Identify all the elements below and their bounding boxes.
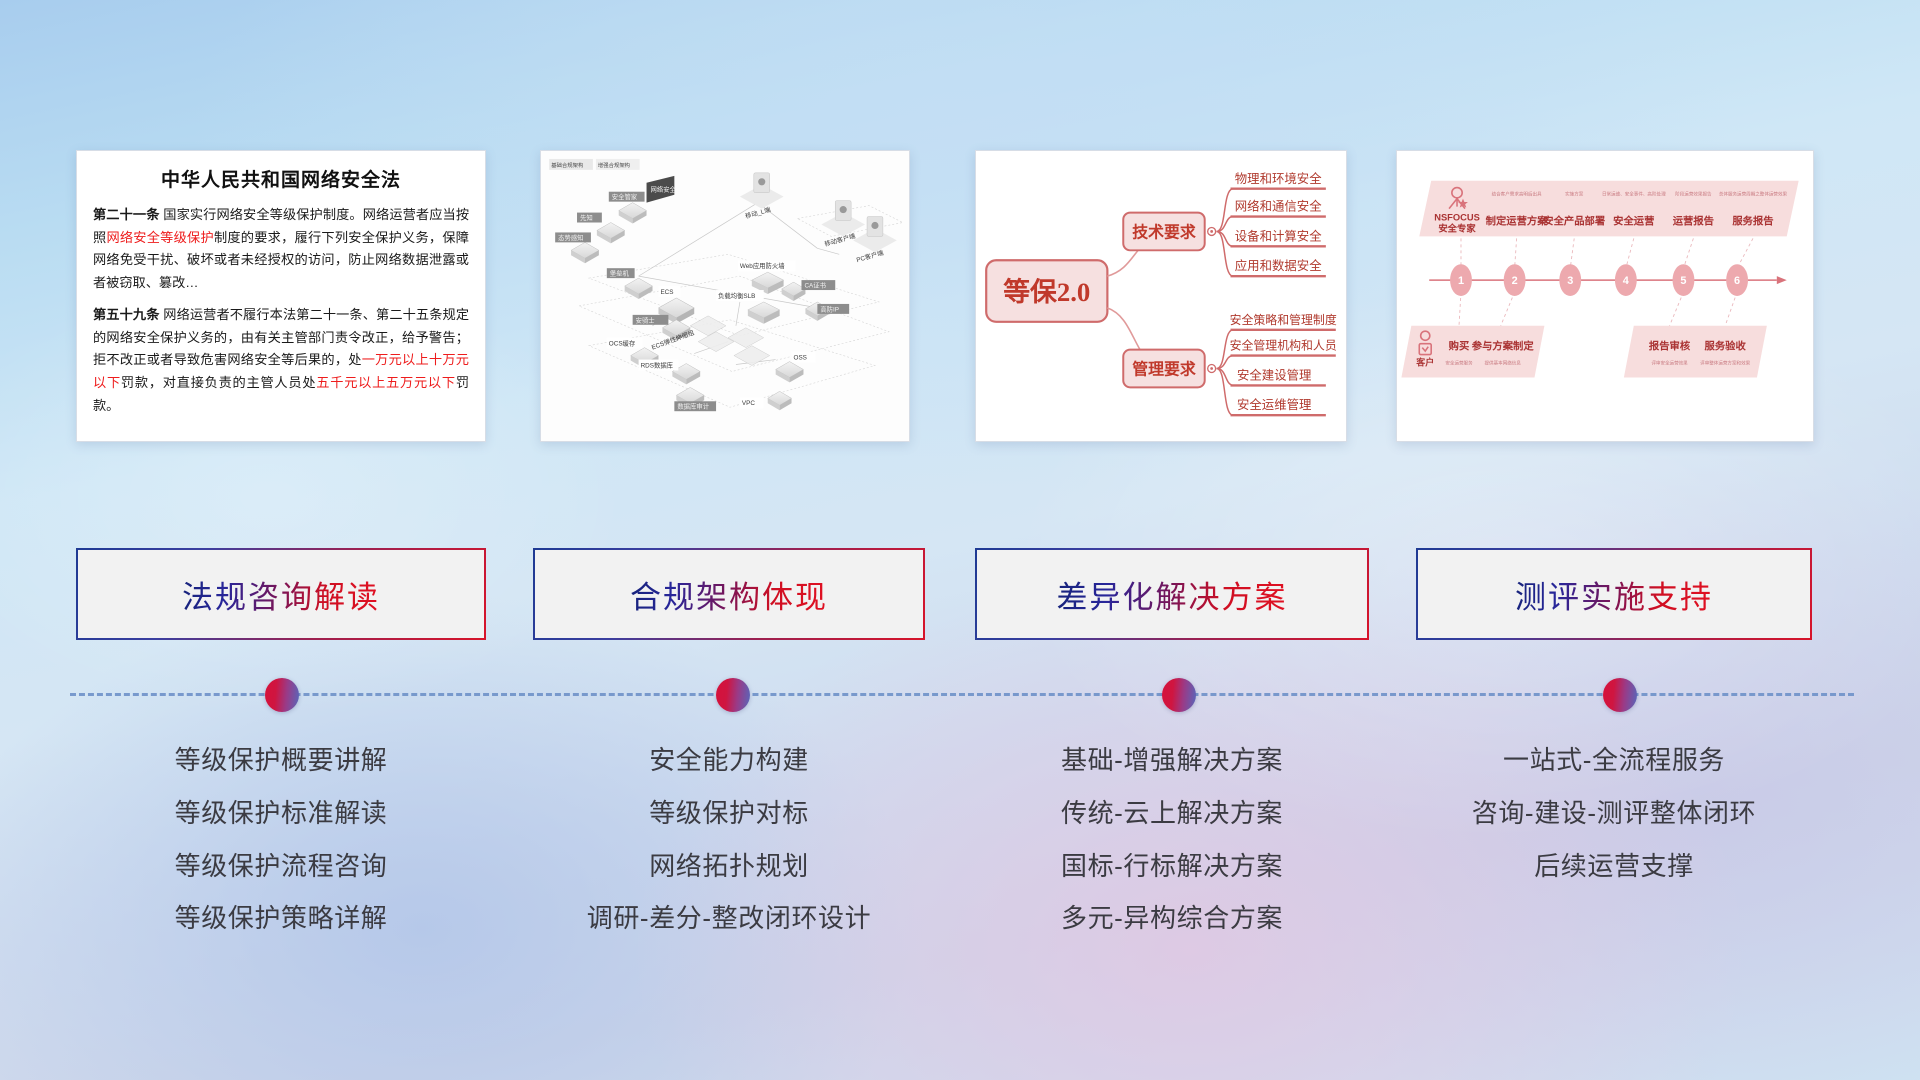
- process-top-title-3: 安全运营: [1613, 214, 1654, 227]
- mindmap-leaf-2-3: 安全建设管理: [1237, 367, 1311, 382]
- timeline: [70, 693, 1854, 697]
- mindmap-leaf-2-2: 安全管理机构和人员: [1230, 339, 1337, 353]
- arch-banner: 网络安全: [651, 185, 677, 194]
- list-item: 网络拓扑规划: [533, 840, 925, 893]
- section-title-label-2: 合规架构体现: [630, 572, 828, 617]
- arch-node-14: OSS: [794, 355, 807, 362]
- section-title-label-4: 测评实施支持: [1515, 572, 1713, 617]
- timeline-dot-1[interactable]: [265, 678, 299, 712]
- process-bottom-title-4: 服务验收: [1705, 340, 1747, 353]
- section-title-box-2[interactable]: 合规架构体现: [533, 548, 925, 640]
- process-bottom-note-1: 安全运营服务: [1445, 360, 1473, 367]
- mindmap-diagram: 等保2.0 技术要求 物理和环境安全 网络和通: [976, 151, 1346, 441]
- mindmap-leaf-1-2: 网络和通信安全: [1235, 199, 1322, 214]
- law-article-21: 第二十一条 国家实行网络安全等级保护制度。网络运营者应当按照网络安全等级保护制度…: [93, 204, 469, 295]
- list-item: 等级保护对标: [533, 787, 925, 840]
- list-item: 传统-云上解决方案: [975, 787, 1369, 840]
- process-top-note-5: 总体服务运营周期之整体运营效果: [1719, 191, 1788, 198]
- mindmap-root-label: 等保2.0: [1003, 276, 1090, 307]
- list-item: 安全能力构建: [533, 734, 925, 787]
- section-item-list-2: 安全能力构建 等级保护对标 网络拓扑规划 调研-差分-整改闭环设计: [533, 734, 925, 945]
- mindmap-branch-2-label: 管理要求: [1132, 359, 1196, 378]
- architecture-diagram: 基础合规架构 增强合规架构 网络安全: [541, 151, 909, 441]
- process-step-1: 1: [1458, 275, 1464, 287]
- process-bottom-title-3: 报告审核: [1649, 340, 1691, 353]
- process-step-5: 5: [1680, 275, 1686, 287]
- process-top-note-1: 结合客户需求高明后出具: [1492, 191, 1542, 198]
- process-bottom-note-2: 提供基本网络信息: [1485, 360, 1522, 367]
- arch-node-13: 高防IP: [820, 304, 839, 313]
- list-item: 多元-异构综合方案: [975, 892, 1369, 945]
- timeline-dot-2[interactable]: [716, 678, 750, 712]
- mindmap-branch-1-label: 技术要求: [1132, 222, 1196, 241]
- timeline-dot-4[interactable]: [1603, 678, 1637, 712]
- list-item: 后续运营支撑: [1416, 840, 1812, 893]
- arch-node-8: RDS数据库: [641, 361, 674, 370]
- section-item-list-4: 一站式-全流程服务 咨询-建设-测评整体闭环 后续运营支撑: [1416, 734, 1812, 892]
- list-item: 咨询-建设-测评整体闭环: [1416, 787, 1812, 840]
- article-59-text-2: 罚款，对直接负责的主管人员处: [121, 375, 316, 390]
- arch-node-2: 先知: [580, 213, 593, 222]
- mindmap-leaf-1-3: 设备和计算安全: [1235, 228, 1322, 243]
- process-step-4: 4: [1623, 275, 1629, 287]
- section-title-label-3: 差异化解决方案: [1057, 572, 1288, 617]
- section-title-box-1[interactable]: 法规咨询解读: [76, 548, 486, 640]
- card-mindmap-dengbao: 等保2.0 技术要求 物理和环境安全 网络和通: [975, 150, 1347, 442]
- mindmap-leaf-2-4: 安全运维管理: [1237, 397, 1311, 412]
- process-top-banner: [1419, 181, 1798, 237]
- list-item: 等级保护策略详解: [76, 892, 486, 945]
- card-nsfocus-process: NSFOCUS 安全专家 结合客户需求高明后出具 制定运营方案 实施方案 安全产…: [1396, 150, 1814, 442]
- process-top-note-3: 日常运维、安全事件、高阶处理: [1602, 191, 1666, 198]
- timeline-dashed-line: [70, 693, 1854, 696]
- section-title-box-4[interactable]: 测评实施支持: [1416, 548, 1812, 640]
- article-21-highlight: 网络安全等级保护: [106, 230, 214, 245]
- list-item: 等级保护流程咨询: [76, 840, 486, 893]
- slide-stage: 中华人民共和国网络安全法 第二十一条 国家实行网络安全等级保护制度。网络运营者应…: [0, 0, 1920, 1080]
- process-top-title-5: 服务报告: [1732, 214, 1773, 227]
- arch-node-7: OCS缓存: [609, 339, 636, 348]
- process-step-2: 2: [1512, 275, 1518, 287]
- article-59-label: 第五十九条: [93, 307, 160, 322]
- arch-tab-1: 基础合规架构: [551, 161, 584, 169]
- article-21-label: 第二十一条: [93, 207, 160, 222]
- process-step-6: 6: [1734, 275, 1740, 287]
- arch-node-1: 安全管家: [612, 192, 638, 201]
- section-item-list-1: 等级保护概要讲解 等级保护标准解读 等级保护流程咨询 等级保护策略详解: [76, 734, 486, 945]
- process-top-title-1: 制定运营方案: [1486, 214, 1549, 227]
- arch-node-6: 安骑士: [636, 315, 656, 324]
- process-top-note-2: 实施方案: [1565, 191, 1584, 198]
- arch-node-3: 态势感知: [558, 233, 583, 242]
- arch-node-5: ECS: [660, 289, 673, 296]
- process-top-actor: NSFOCUS: [1434, 213, 1480, 223]
- arch-node-10: Web应用防火墙: [740, 261, 785, 270]
- process-top-note-4: 阶段运营效果报告: [1675, 191, 1712, 198]
- process-timeline-diagram: NSFOCUS 安全专家 结合客户需求高明后出具 制定运营方案 实施方案 安全产…: [1397, 151, 1813, 441]
- process-bottom-title-1: 购买: [1449, 340, 1470, 353]
- list-item: 基础-增强解决方案: [975, 734, 1369, 787]
- list-item: 等级保护概要讲解: [76, 734, 486, 787]
- process-top-actor-sub: 安全专家: [1438, 222, 1476, 233]
- arch-node-11: 负载均衡SLB: [718, 291, 755, 300]
- timeline-dot-3[interactable]: [1162, 678, 1196, 712]
- card-cybersecurity-law: 中华人民共和国网络安全法 第二十一条 国家实行网络安全等级保护制度。网络运营者应…: [76, 150, 486, 442]
- process-step-3: 3: [1567, 275, 1573, 287]
- process-bottom-title-2: 参与方案制定: [1472, 340, 1535, 353]
- arch-node-12: CA证书: [804, 281, 826, 290]
- list-item: 国标-行标解决方案: [975, 840, 1369, 893]
- section-item-list-3: 基础-增强解决方案 传统-云上解决方案 国标-行标解决方案 多元-异构综合方案: [975, 734, 1369, 945]
- process-bottom-actor: 客户: [1415, 357, 1434, 368]
- section-title-box-3[interactable]: 差异化解决方案: [975, 548, 1369, 640]
- mindmap-leaf-1-1: 物理和环境安全: [1235, 171, 1322, 186]
- list-item: 等级保护标准解读: [76, 787, 486, 840]
- list-item: 调研-差分-整改闭环设计: [533, 892, 925, 945]
- arch-node-4: 堡垒机: [610, 269, 630, 278]
- arch-node-9: 数据库审计: [677, 402, 709, 411]
- card-cloud-architecture: 基础合规架构 增强合规架构 网络安全: [540, 150, 910, 442]
- arch-tab-2: 增强合规架构: [598, 161, 631, 169]
- list-item: 一站式-全流程服务: [1416, 734, 1812, 787]
- process-top-title-2: 安全产品部署: [1543, 214, 1605, 227]
- process-top-title-4: 运营报告: [1673, 214, 1714, 227]
- process-bottom-note-3: 评审安全运营效果: [1651, 360, 1688, 367]
- section-title-label-1: 法规咨询解读: [182, 572, 380, 617]
- law-card-title: 中华人民共和国网络安全法: [93, 165, 469, 192]
- mindmap-leaf-2-1: 安全策略和管理制度: [1230, 313, 1337, 327]
- law-article-59: 第五十九条 网络运营者不履行本法第二十一条、第二十五条规定的网络安全保护义务的，…: [93, 304, 469, 418]
- process-bottom-note-4: 评审整体运营方案和效果: [1700, 360, 1750, 367]
- article-59-highlight-2: 五千元以上五万元以下: [316, 375, 456, 390]
- mindmap-leaf-1-4: 应用和数据安全: [1235, 258, 1322, 273]
- arch-node-15: VPC: [742, 400, 755, 407]
